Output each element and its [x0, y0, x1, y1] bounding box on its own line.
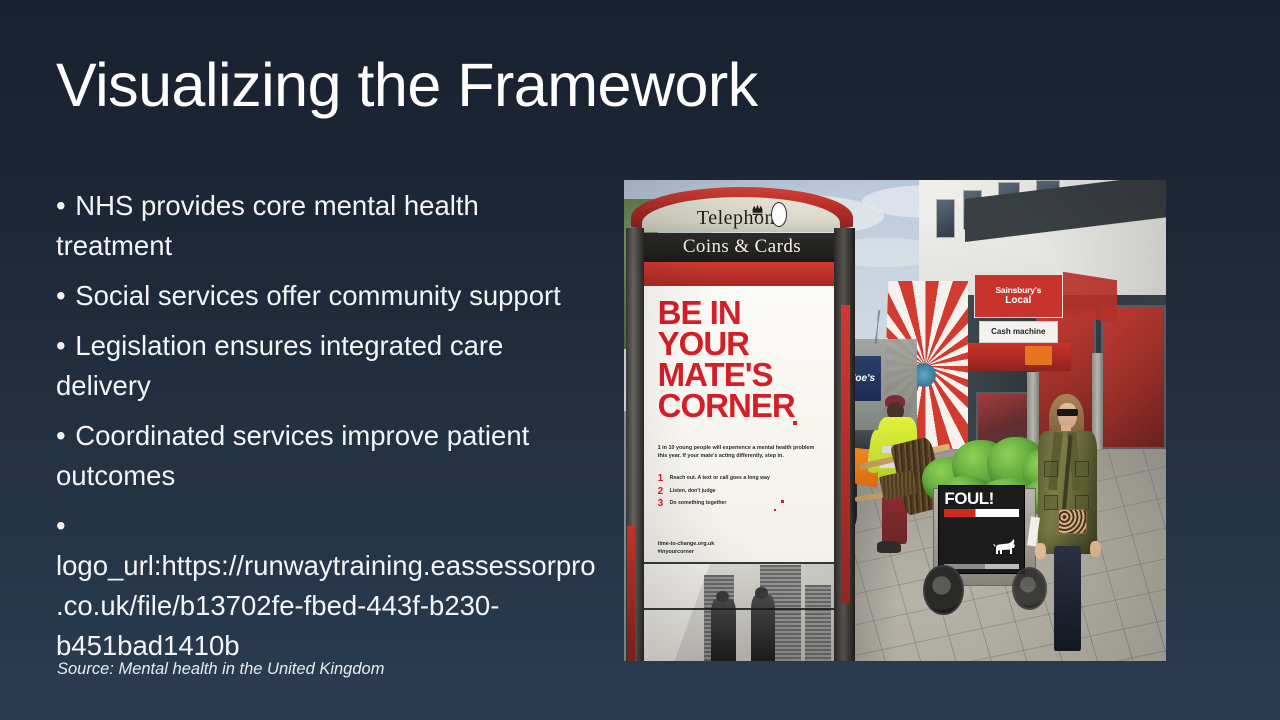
street-cleaner-boot — [877, 541, 901, 554]
list-item: • NHS provides core mental health treatm… — [56, 186, 601, 266]
foul-dog-sign: FOUL! — [938, 485, 1025, 574]
shop-awning — [963, 343, 1071, 372]
sainsburys-sign: Sainsbury's Local — [974, 274, 1063, 318]
pedestrian-hand — [1035, 543, 1046, 559]
phone-box-red-edge — [627, 526, 635, 661]
presentation-slide: Visualizing the Framework • NHS provides… — [0, 0, 1280, 720]
cart-wheel — [1012, 567, 1047, 610]
leopard-print-bag — [1058, 509, 1088, 533]
list-item-logo-url: • logo_url:https://runwaytraining.easses… — [56, 506, 601, 666]
telephone-box: Telephone Coins & Cards BE IN YOUR MATE'… — [624, 180, 873, 661]
poster-figure — [751, 595, 775, 661]
source-caption: Source: Mental health in the United King… — [57, 659, 384, 679]
bullet-marker: • — [56, 190, 66, 221]
bullet-text: logo_url:https://runwaytraining.eassesso… — [56, 550, 596, 661]
bullet-list: • NHS provides core mental health treatm… — [56, 186, 601, 666]
phone-box-red-edge — [841, 305, 850, 603]
poster-fleck — [781, 500, 784, 503]
jacket-pocket — [1044, 495, 1058, 510]
poster-step-text: Reach out. A text or call goes a long wa… — [670, 475, 770, 482]
poster-headline-line: BE IN — [658, 297, 821, 328]
jacket-pocket — [1075, 495, 1089, 510]
crown-icon — [751, 200, 764, 220]
poster-step-text: Do something together — [670, 500, 727, 507]
poster-step: 2 Listen, don't judge — [658, 488, 825, 495]
list-item: • Coordinated services improve patient o… — [56, 416, 601, 496]
window — [936, 199, 956, 237]
poster-step-number: 2 — [658, 488, 670, 495]
poster-fleck — [774, 509, 776, 511]
pedestrian-hand — [1090, 541, 1101, 557]
poster-step-number: 3 — [658, 500, 670, 507]
poster-step: 1 Reach out. A text or call goes a long … — [658, 475, 825, 482]
bullet-text: Legislation ensures integrated care deli… — [56, 330, 503, 401]
neighbour-shop-sign — [1063, 272, 1117, 324]
list-item: • Legislation ensures integrated care de… — [56, 326, 601, 406]
pedestrian-face — [1058, 403, 1077, 429]
sainsburys-name: Sainsbury's — [995, 286, 1041, 295]
poster-headline-line: YOUR — [658, 328, 821, 359]
poster-step: 3 Do something together — [658, 500, 825, 507]
poster-panel-seam — [644, 562, 834, 564]
foul-sign-band — [944, 509, 1019, 517]
poster-website: time-to-change.org.uk — [658, 541, 821, 549]
cart-wheel — [923, 565, 964, 616]
pedestrian-legs — [1054, 546, 1081, 652]
phone-box-red-band — [637, 262, 848, 286]
poster-headline-line: MATE'S — [658, 359, 821, 390]
dog-icon — [992, 537, 1018, 557]
poster-fleck — [793, 421, 797, 425]
sunglasses-icon — [1057, 409, 1079, 416]
bullet-marker: • — [56, 280, 66, 311]
street-fixture — [1025, 346, 1052, 365]
cash-machine-sign: Cash machine — [979, 321, 1058, 342]
phone-box-serial — [842, 286, 852, 315]
payment-sign-label: Coins & Cards — [683, 236, 801, 258]
bullet-marker: • — [56, 510, 66, 541]
list-item: • Social services offer community suppor… — [56, 276, 601, 316]
payment-sign: Coins & Cards — [631, 233, 852, 262]
poster-hashtag: #inyourcorner — [658, 549, 821, 557]
poster-footer: time-to-change.org.uk #inyourcorner — [658, 541, 821, 556]
slide-photo: Sainsbury's Local Cash machine Joe's — [624, 180, 1166, 661]
page-title: Visualizing the Framework — [56, 54, 758, 117]
foul-sign-word: FOUL! — [944, 490, 1019, 507]
st-george-emblem — [771, 202, 787, 227]
poster-step-number: 1 — [658, 475, 670, 482]
shop-window — [1101, 305, 1166, 449]
poster-headline: BE IN YOUR MATE'S CORNER — [658, 297, 821, 421]
poster-body-text: 1 in 10 young people will experience a m… — [658, 445, 821, 460]
tower-block — [805, 585, 831, 661]
poster-photo — [648, 563, 834, 661]
sainsburys-format: Local — [1005, 296, 1031, 306]
bullet-text: Coordinated services improve patient out… — [56, 420, 529, 491]
poster-step-text: Listen, don't judge — [670, 488, 716, 495]
bullet-marker: • — [56, 330, 66, 361]
bullet-text: Social services offer community support — [75, 280, 561, 311]
campaign-poster: BE IN YOUR MATE'S CORNER 1 in 10 young p… — [644, 286, 834, 661]
jacket-pocket — [1075, 461, 1089, 476]
poster-headline-line: CORNER — [658, 390, 821, 421]
bullet-text: NHS provides core mental health treatmen… — [56, 190, 479, 261]
bullet-marker: • — [56, 420, 66, 451]
poster-figure-head — [755, 587, 768, 599]
jacket-pocket — [1044, 461, 1058, 476]
poster-panel-seam — [644, 608, 834, 610]
poster-steps: 1 Reach out. A text or call goes a long … — [658, 475, 825, 513]
